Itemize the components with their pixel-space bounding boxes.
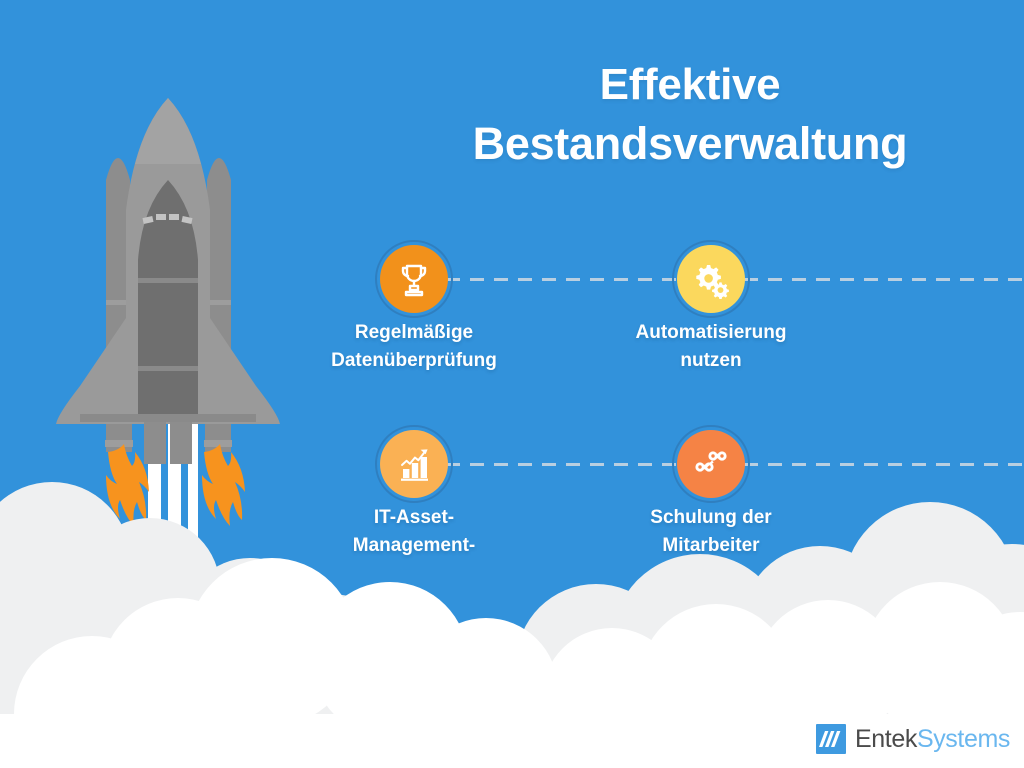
logo-word-entek: Entek [855, 725, 917, 753]
caption-line-1: Regelmäßige [264, 319, 564, 347]
logo-word-systems: Systems [917, 725, 1010, 753]
step-icon-circle[interactable] [380, 430, 448, 498]
caption-line-2: Mitarbeiter [561, 532, 861, 560]
step-caption-1: Regelmäßige Datenüberprüfung [264, 319, 564, 375]
step-icon-circle[interactable] [380, 245, 448, 313]
step-caption-3: IT-Asset- Management- [264, 504, 564, 560]
caption-line-2: nutzen [561, 347, 861, 375]
caption-line-2: Management- [264, 532, 564, 560]
network-nodes-icon [691, 444, 731, 484]
title-line-1: Effektive [380, 56, 1000, 114]
connector-dashed-line [744, 463, 1024, 466]
caption-line-2: Datenüberprüfung [264, 347, 564, 375]
infographic-canvas: Effektive Bestandsverwaltung [0, 0, 1024, 768]
step-icon-circle[interactable] [677, 245, 745, 313]
diagonal-stripes-icon [816, 724, 846, 754]
growth-chart-icon [394, 444, 434, 484]
caption-line-1: Schulung der [561, 504, 861, 532]
entek-systems-logo[interactable]: EntekSystems [816, 724, 1010, 754]
shuttle-body [138, 180, 198, 420]
page-title: Effektive Bestandsverwaltung [380, 56, 1000, 173]
step-caption-2: Automatisierung nutzen [561, 319, 861, 375]
title-line-2: Bestandsverwaltung [380, 114, 1000, 173]
logo-wordmark: EntekSystems [855, 727, 1010, 752]
connector-dashed-line [744, 278, 1024, 281]
caption-line-1: Automatisierung [561, 319, 861, 347]
gears-icon [691, 259, 731, 299]
connector-dashed-line [446, 278, 685, 281]
connector-dashed-line [446, 463, 685, 466]
step-caption-4: Schulung der Mitarbeiter [561, 504, 861, 560]
entek-logo-mark [816, 724, 846, 754]
cloud-bank [0, 428, 1024, 768]
trophy-icon [394, 259, 434, 299]
step-icon-circle[interactable] [677, 430, 745, 498]
caption-line-1: IT-Asset- [264, 504, 564, 532]
